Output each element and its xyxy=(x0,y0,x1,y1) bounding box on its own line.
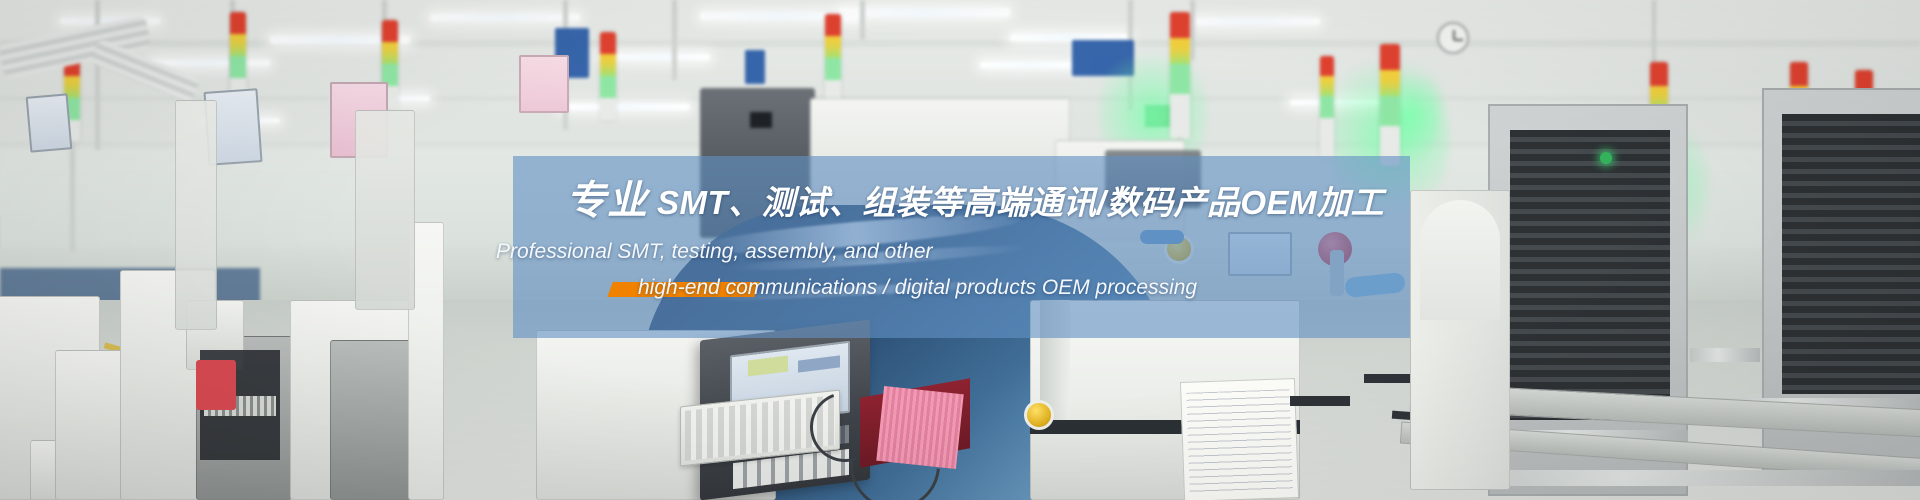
banner-headline: 专业SMT、测试、组装等高端通讯/数码产品OEM加工 xyxy=(566,168,1384,226)
hero-banner: 专业SMT、测试、组装等高端通讯/数码产品OEM加工 Professional … xyxy=(0,0,1920,500)
banner-subtitle-line1: Professional SMT, testing, assembly, and… xyxy=(496,240,933,264)
headline-rest: SMT、测试、组装等高端通讯/数码产品OEM加工 xyxy=(657,184,1384,221)
headline-highlight: 专业 xyxy=(566,179,648,223)
banner-subtitle-line2: high-end communications / digital produc… xyxy=(638,276,1197,300)
banner-text-overlay: 专业SMT、测试、组装等高端通讯/数码产品OEM加工 Professional … xyxy=(513,156,1410,338)
